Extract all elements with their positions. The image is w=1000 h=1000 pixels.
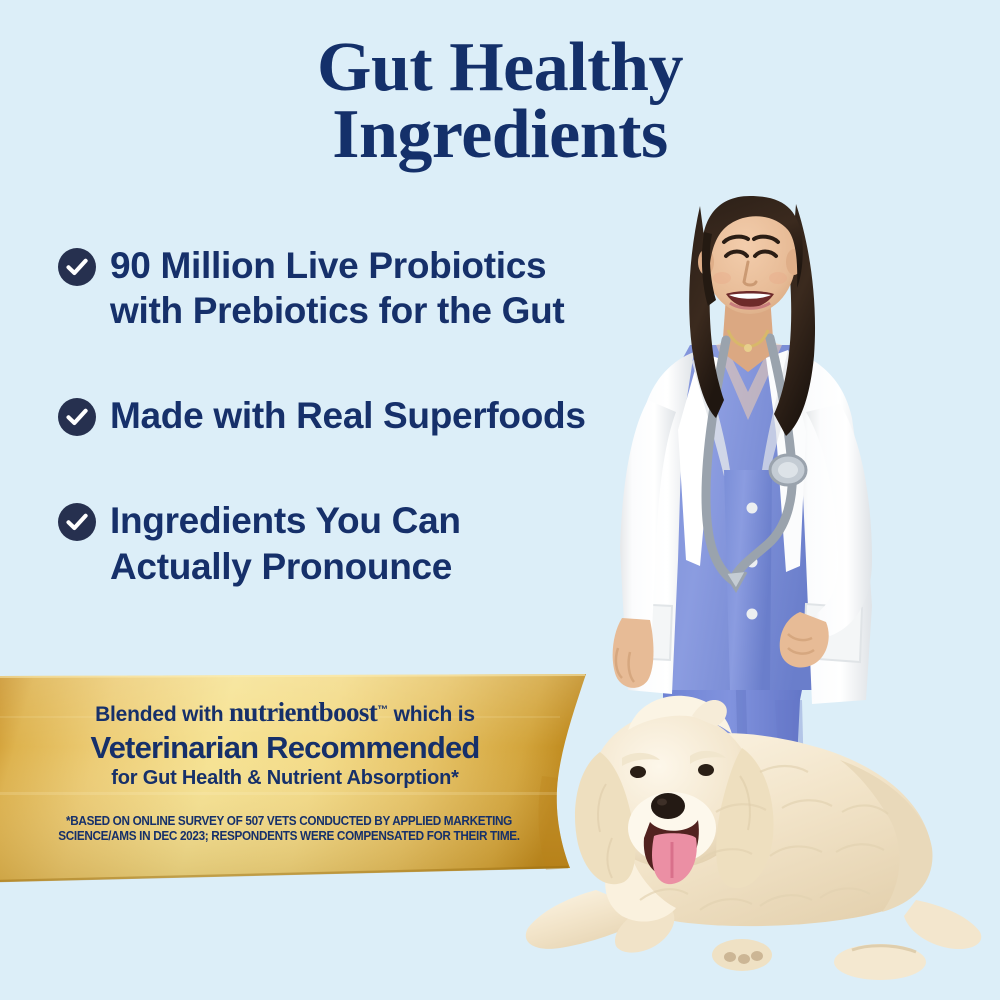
ribbon-line-2: Veterinarian Recommended [0, 731, 570, 764]
page-title-line-1: Gut Healthy [317, 29, 683, 106]
nutrientboost-wordmark: nutrientboost [229, 697, 377, 727]
check-circle-icon [58, 398, 96, 436]
list-item: Made with Real Superfoods [58, 393, 658, 438]
promo-banner-canvas: Gut Healthy Ingredients [0, 0, 1000, 1000]
page-title-line-2: Ingredients [0, 101, 1000, 168]
list-item-label: Made with Real Superfoods [110, 393, 586, 438]
list-item-label: Ingredients You Can Actually Pronounce [110, 498, 461, 588]
page-title: Gut Healthy Ingredients [0, 34, 1000, 168]
survey-disclaimer: *BASED ON ONLINE SURVEY OF 507 VETS COND… [17, 814, 560, 844]
benefit-list: 90 Million Live Probiotics with Prebioti… [58, 243, 658, 589]
check-circle-icon [58, 248, 96, 286]
ribbon-headline-block: Blended with nutrientboost™ which is Vet… [0, 672, 570, 789]
check-circle-icon [58, 503, 96, 541]
vet-recommended-ribbon: Blended with nutrientboost™ which is Vet… [0, 672, 620, 887]
trademark-symbol: ™ [377, 704, 388, 716]
ribbon-line-3: for Gut Health & Nutrient Absorption* [0, 767, 570, 789]
list-item-label: 90 Million Live Probiotics with Prebioti… [110, 243, 564, 333]
list-item: 90 Million Live Probiotics with Prebioti… [58, 243, 658, 333]
list-item: Ingredients You Can Actually Pronounce [58, 498, 658, 588]
ribbon-line-1-suffix: which is [388, 703, 475, 726]
ribbon-line-1-prefix: Blended with [95, 703, 229, 726]
ribbon-line-1: Blended with nutrientboost™ which is [0, 698, 570, 728]
